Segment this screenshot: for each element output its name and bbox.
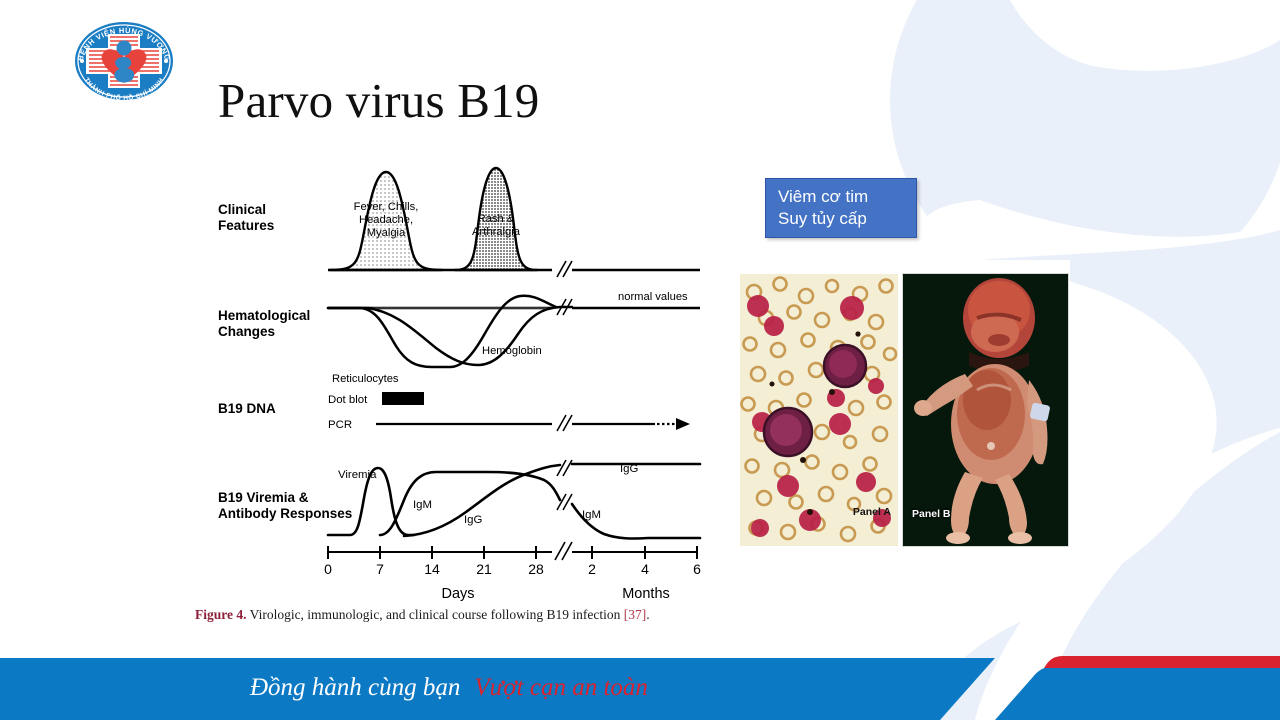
figure-caption-period: . (646, 607, 649, 622)
axis-tick-14: 14 (424, 561, 440, 577)
callout-line-1: Viêm cơ tim (778, 186, 916, 208)
figure-4: Clinical Features Hematological Changes … (200, 160, 710, 630)
figure-caption-number: Figure 4. (195, 607, 247, 622)
time-axis (328, 546, 697, 559)
annotation-fever-chills: Fever, Chills, (354, 201, 419, 213)
hospital-logo: BỆNH VIỆN HÙNG VƯƠNG THÀNH PHỐ HỒ CHÍ MI… (64, 12, 184, 110)
annotation-igg-1: IgG (464, 514, 482, 526)
annotation-dot-blot: Dot blot (328, 394, 368, 406)
annotation-myalgia: Myalgia (367, 227, 406, 239)
tagline-white-text: Đồng hành cùng bạn (250, 674, 460, 701)
panel-b-label: Panel B (912, 508, 951, 520)
panel-a-label: Panel A (853, 506, 891, 518)
axis-label-months: Months (622, 586, 670, 602)
axis-tick-month-4: 4 (641, 561, 649, 577)
annotation-reticulocytes: Reticulocytes (332, 373, 399, 385)
annotation-headache: Headache, (359, 214, 413, 226)
b19-dna-plot: Dot blot PCR (328, 392, 690, 431)
annotation-hemoglobin: Hemoglobin (482, 345, 542, 357)
panel-b-hydropic-fetus: Panel B (903, 274, 1068, 546)
axis-tick-7: 7 (376, 561, 384, 577)
callout-box-myocarditis-marrow-failure[interactable]: Viêm cơ tim Suy tủy cấp (765, 178, 917, 238)
annotation-arthralgia: Arthralgia (472, 226, 521, 238)
b19-viremia-antibody-plot: Viremia IgM IgG IgG IgM (324, 460, 701, 602)
figure-plot-area: Fever, Chills, Headache, Myalgia Rash & … (200, 160, 710, 610)
figure-caption-reference: [37] (624, 607, 647, 622)
footer-tagline: Đồng hành cùng bạnVượt cạn an toàn (250, 674, 648, 702)
annotation-viremia: Viremia (338, 469, 377, 481)
panel-a-blood-smear: Panel A (740, 274, 898, 546)
callout-line-2: Suy tủy cấp (778, 208, 916, 230)
clinical-features-plot: Fever, Chills, Headache, Myalgia Rash & … (328, 168, 700, 277)
axis-tick-21: 21 (476, 561, 492, 577)
annotation-rash: Rash & (478, 213, 515, 225)
axis-tick-28: 28 (528, 561, 544, 577)
axis-tick-0: 0 (324, 561, 332, 577)
figure-caption: Figure 4. Virologic, immunologic, and cl… (195, 607, 715, 623)
figure-caption-text: Virologic, immunologic, and clinical cou… (247, 607, 624, 622)
tagline-red-text: Vượt cạn an toàn (474, 674, 648, 701)
annotation-igg-2: IgG (620, 463, 638, 475)
axis-tick-month-2: 2 (588, 561, 596, 577)
hematological-changes-plot: normal values Reticulocytes Hemoglobin (328, 291, 700, 385)
annotation-pcr: PCR (328, 419, 352, 431)
axis-label-days: Days (441, 586, 474, 602)
axis-tick-month-6: 6 (693, 561, 701, 577)
annotation-normal-values: normal values (618, 291, 688, 303)
annotation-igm-1: IgM (413, 499, 432, 511)
page-title: Parvo virus B19 (218, 72, 540, 129)
annotation-igm-2: IgM (582, 509, 601, 521)
